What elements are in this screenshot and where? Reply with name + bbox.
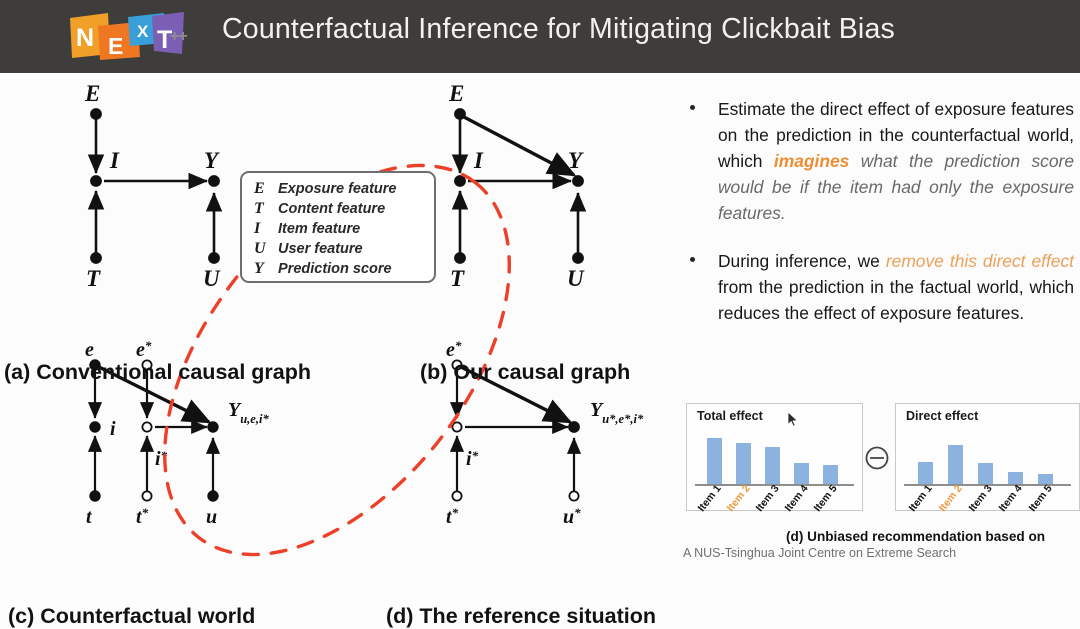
svg-text:T: T xyxy=(86,266,101,291)
svg-text:U: U xyxy=(203,266,221,291)
bullet-list: Estimate the direct effect of exposure f… xyxy=(682,96,1074,348)
legend-symbol: E xyxy=(254,179,278,199)
slide: N E X T ++ Counterfactual Inference for … xyxy=(0,0,1080,566)
svg-text:e*: e* xyxy=(446,338,462,361)
xtick-item-4: Item 4 xyxy=(783,483,811,514)
bullet-dot-icon xyxy=(690,105,695,110)
xtick-item-2: Item 2 xyxy=(937,483,965,514)
legend-symbol: Y xyxy=(254,259,278,279)
bar-item-2 xyxy=(948,445,963,484)
legend-row: I Item feature xyxy=(254,219,434,239)
total-effect-plot: Item 1 Item 2 Item 3 Item 4 Item 5 xyxy=(687,422,862,512)
svg-text:t*: t* xyxy=(446,505,459,528)
bullet-2-seg-2: remove this direct effect xyxy=(886,251,1074,271)
svg-text:u*: u* xyxy=(563,505,581,528)
bar-item-5 xyxy=(823,465,838,484)
xtick-item-2: Item 2 xyxy=(725,483,753,514)
legend-text: Prediction score xyxy=(278,259,392,279)
causal-graph-figure: E I Y T U E I Y xyxy=(0,73,676,566)
bar-item-3 xyxy=(765,447,780,484)
svg-text:E: E xyxy=(108,33,123,59)
bullet-2-seg-3: from the prediction in the factual world… xyxy=(718,277,1074,323)
subfigure-caption-c: (c) Counterfactual world xyxy=(8,604,255,629)
footer-text: A NUS-Tsinghua Joint Centre on Extreme S… xyxy=(683,546,956,560)
xtick-item-1: Item 1 xyxy=(907,483,935,514)
graph-a xyxy=(91,109,220,264)
logo-suffix: ++ xyxy=(170,28,187,46)
figure-caption: (d) Unbiased recommendation based on xyxy=(786,529,1045,544)
legend-text: Content feature xyxy=(278,199,385,219)
effect-charts: Total effect Item 1 Item 2 Item 3 Item 4… xyxy=(686,403,1080,511)
legend-symbol: T xyxy=(254,199,278,219)
bar-item-2 xyxy=(736,443,751,484)
chart-title: Total effect xyxy=(697,409,763,423)
causal-graphs-svg: E I Y T U E I Y xyxy=(0,73,676,566)
svg-text:t*: t* xyxy=(136,505,149,528)
mouse-cursor-icon xyxy=(787,411,799,433)
subfigure-caption-a: (a) Conventional causal graph xyxy=(4,360,311,385)
xtick-item-4: Item 4 xyxy=(997,483,1025,514)
svg-text:i*: i* xyxy=(466,448,479,470)
legend-text: User feature xyxy=(278,239,363,259)
direct-effect-plot: Item 1 Item 2 Item 3 Item 4 Item 5 xyxy=(896,422,1079,512)
svg-text:Y: Y xyxy=(204,148,220,173)
svg-text:u: u xyxy=(206,506,217,528)
page-title: Counterfactual Inference for Mitigating … xyxy=(222,13,895,46)
svg-text:E: E xyxy=(84,81,100,106)
svg-text:I: I xyxy=(473,148,484,173)
bar-item-3 xyxy=(978,463,993,484)
xtick-item-3: Item 3 xyxy=(967,483,995,514)
bullet-1-seg-2: imagines xyxy=(774,151,849,171)
bar-item-1 xyxy=(918,462,933,484)
svg-text:e*: e* xyxy=(136,338,152,361)
svg-text:N: N xyxy=(76,24,94,52)
total-effect-chart: Total effect Item 1 Item 2 Item 3 Item 4… xyxy=(686,403,863,511)
bullet-item: Estimate the direct effect of exposure f… xyxy=(682,96,1074,226)
next-plus-plus-logo: N E X T ++ xyxy=(66,10,186,62)
chart-title: Direct effect xyxy=(906,409,978,423)
bullet-dot-icon xyxy=(690,257,695,262)
legend-text: Exposure feature xyxy=(278,179,396,199)
minus-circle-icon xyxy=(864,445,890,471)
legend-text: Item feature xyxy=(278,219,360,239)
svg-text:U: U xyxy=(567,266,585,291)
legend-row: Y Prediction score xyxy=(254,259,434,279)
bullet-text: During inference, we remove this direct … xyxy=(718,248,1074,326)
direct-effect-chart: Direct effect Item 1 Item 2 Item 3 Item … xyxy=(895,403,1080,511)
bullet-text: Estimate the direct effect of exposure f… xyxy=(718,96,1074,226)
bullet-2-seg-1: During inference, we xyxy=(718,251,886,271)
svg-text:i: i xyxy=(110,418,116,440)
xtick-item-5: Item 5 xyxy=(812,483,840,514)
bullet-item: During inference, we remove this direct … xyxy=(682,248,1074,326)
svg-text:E: E xyxy=(448,81,464,106)
svg-text:Yu,e,i*: Yu,e,i* xyxy=(228,399,269,426)
svg-text:t: t xyxy=(86,506,93,528)
slide-header: N E X T ++ Counterfactual Inference for … xyxy=(0,0,1080,73)
svg-text:e: e xyxy=(85,339,94,361)
subfigure-caption-d: (d) The reference situation xyxy=(386,604,656,629)
svg-text:T: T xyxy=(450,266,465,291)
legend-symbol: I xyxy=(254,219,278,239)
bar-item-1 xyxy=(707,438,722,484)
legend-symbol: U xyxy=(254,239,278,259)
legend-row: T Content feature xyxy=(254,199,434,219)
svg-text:Yu*,e*,i*: Yu*,e*,i* xyxy=(590,399,644,426)
legend-row: E Exposure feature xyxy=(254,179,434,199)
bar-item-4 xyxy=(794,463,809,484)
legend-row: U User feature xyxy=(254,239,434,259)
xtick-item-3: Item 3 xyxy=(754,483,782,514)
svg-text:I: I xyxy=(109,148,120,173)
graph-b xyxy=(455,109,584,264)
xtick-item-1: Item 1 xyxy=(696,483,724,514)
svg-text:Y: Y xyxy=(568,148,584,173)
xtick-item-5: Item 5 xyxy=(1027,483,1055,514)
svg-text:X: X xyxy=(137,22,149,41)
subfigure-caption-b: (b) Our causal graph xyxy=(420,360,630,385)
symbol-legend: E Exposure feature T Content feature I I… xyxy=(240,171,436,283)
